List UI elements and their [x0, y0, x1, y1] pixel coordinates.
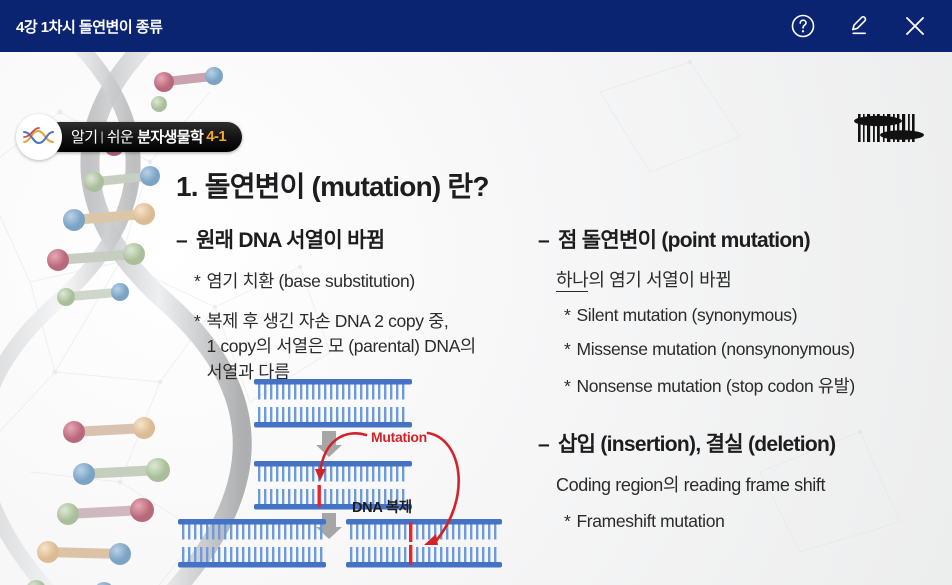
- slide-canvas: 알기 | 쉬운 분자생물학 4-1 1. 돌연변이 (mutation) 란? …: [0, 52, 952, 585]
- dna-strand-original: [254, 379, 412, 428]
- bullet-star: *: [194, 271, 200, 292]
- logo-text-1: 알기: [71, 126, 97, 147]
- right-subheading-1: 하나의 염기 서열이 바뀜: [556, 266, 944, 292]
- bullet-star: *: [194, 309, 200, 334]
- left-bullet-1-text: 염기 치환 (base substitution): [206, 268, 414, 293]
- right-heading-2-text: 삽입 (insertion), 결실 (deletion): [558, 428, 835, 458]
- right-group-point-mutation: – 점 돌연변이 (point mutation) 하나의 염기 서열이 바뀜 …: [538, 224, 944, 398]
- down-arrow-icon-2: [316, 513, 342, 539]
- mutation-arrowhead-right: [424, 534, 438, 545]
- close-icon[interactable]: [900, 11, 930, 41]
- course-logo-badge: 알기 | 쉬운 분자생물학 4-1: [16, 121, 242, 152]
- dna-replication-figure: [170, 377, 510, 585]
- right-subheading-1-underlined: 하나: [556, 270, 588, 292]
- barcode-decor-icon: [840, 110, 936, 146]
- left-bullet-1: * 염기 치환 (base substitution): [194, 268, 526, 293]
- right-content-column: – 점 돌연변이 (point mutation) 하나의 염기 서열이 바뀜 …: [538, 224, 944, 532]
- dna-strand-daughter-normal: [178, 519, 326, 568]
- bullet-star: *: [564, 376, 570, 397]
- right-bullet-4-text: Frameshift mutation: [576, 511, 724, 532]
- bullet-star: *: [564, 305, 570, 326]
- logo-mark-icon: [16, 114, 62, 160]
- right-bullet-1-text: Silent mutation (synonymous): [576, 305, 797, 326]
- dna-strand-daughter-mutated: [346, 519, 502, 568]
- right-heading-1: – 점 돌연변이 (point mutation): [538, 224, 944, 254]
- logo-text-bold: 분자생물학: [137, 126, 203, 147]
- logo-separator: |: [100, 129, 103, 144]
- down-arrow-icon-1: [316, 431, 342, 457]
- right-subheading-1-rest: 의 염기 서열이 바뀜: [588, 270, 731, 290]
- right-bullet-3: * Nonsense mutation (stop codon 유발): [564, 373, 944, 398]
- app-bar: 4강 1차시 돌연변이 종류: [0, 0, 952, 52]
- right-heading-1-text: 점 돌연변이 (point mutation): [558, 224, 810, 254]
- app-bar-actions: [788, 11, 930, 41]
- right-bullet-2: * Missense mutation (nonsynonymous): [564, 339, 944, 360]
- mutation-mark: [318, 485, 321, 507]
- left-heading: – 원래 DNA 서열이 바뀜: [176, 224, 526, 254]
- figure-label-mutation: Mutation: [371, 429, 427, 445]
- left-content-column: – 원래 DNA 서열이 바뀜 * 염기 치환 (base substituti…: [176, 224, 526, 385]
- right-bullet-4: * Frameshift mutation: [564, 511, 944, 532]
- logo-unit-badge: 4-1: [206, 128, 226, 145]
- right-heading-2-dash: –: [538, 433, 549, 457]
- right-group-indel: – 삽입 (insertion), 결실 (deletion) Coding r…: [538, 428, 944, 532]
- right-subheading-2-rest: Coding region의 reading frame shift: [556, 475, 825, 495]
- right-bullet-3-text: Nonsense mutation (stop codon 유발): [576, 373, 854, 398]
- right-bullet-2-text: Missense mutation (nonsynonymous): [576, 339, 854, 360]
- right-subheading-2: Coding region의 reading frame shift: [556, 471, 944, 497]
- pen-icon[interactable]: [844, 11, 874, 41]
- bullet-star: *: [564, 511, 570, 532]
- bullet-star: *: [564, 339, 570, 360]
- page-title: 4강 1차시 돌연변이 종류: [16, 16, 162, 37]
- help-icon[interactable]: [788, 11, 818, 41]
- right-heading-1-dash: –: [538, 229, 549, 253]
- left-heading-text: 원래 DNA 서열이 바뀜: [196, 224, 384, 254]
- mutation-mark: [409, 545, 412, 565]
- left-heading-dash: –: [176, 229, 187, 253]
- slide-heading: 1. 돌연변이 (mutation) 란?: [176, 165, 489, 205]
- figure-label-replication: DNA 복제: [352, 496, 412, 517]
- mutation-mark: [409, 522, 412, 542]
- logo-title-pill: 알기 | 쉬운 분자생물학 4-1: [45, 122, 242, 152]
- right-heading-2: – 삽입 (insertion), 결실 (deletion): [538, 428, 944, 458]
- right-bullet-1: * Silent mutation (synonymous): [564, 305, 944, 326]
- logo-text-2: 쉬운: [107, 126, 133, 147]
- left-bullet-2-text: 복제 후 생긴 자손 DNA 2 copy 중, 1 copy의 서열은 모 (…: [206, 309, 475, 385]
- left-bullet-2: * 복제 후 생긴 자손 DNA 2 copy 중, 1 copy의 서열은 모…: [194, 309, 526, 385]
